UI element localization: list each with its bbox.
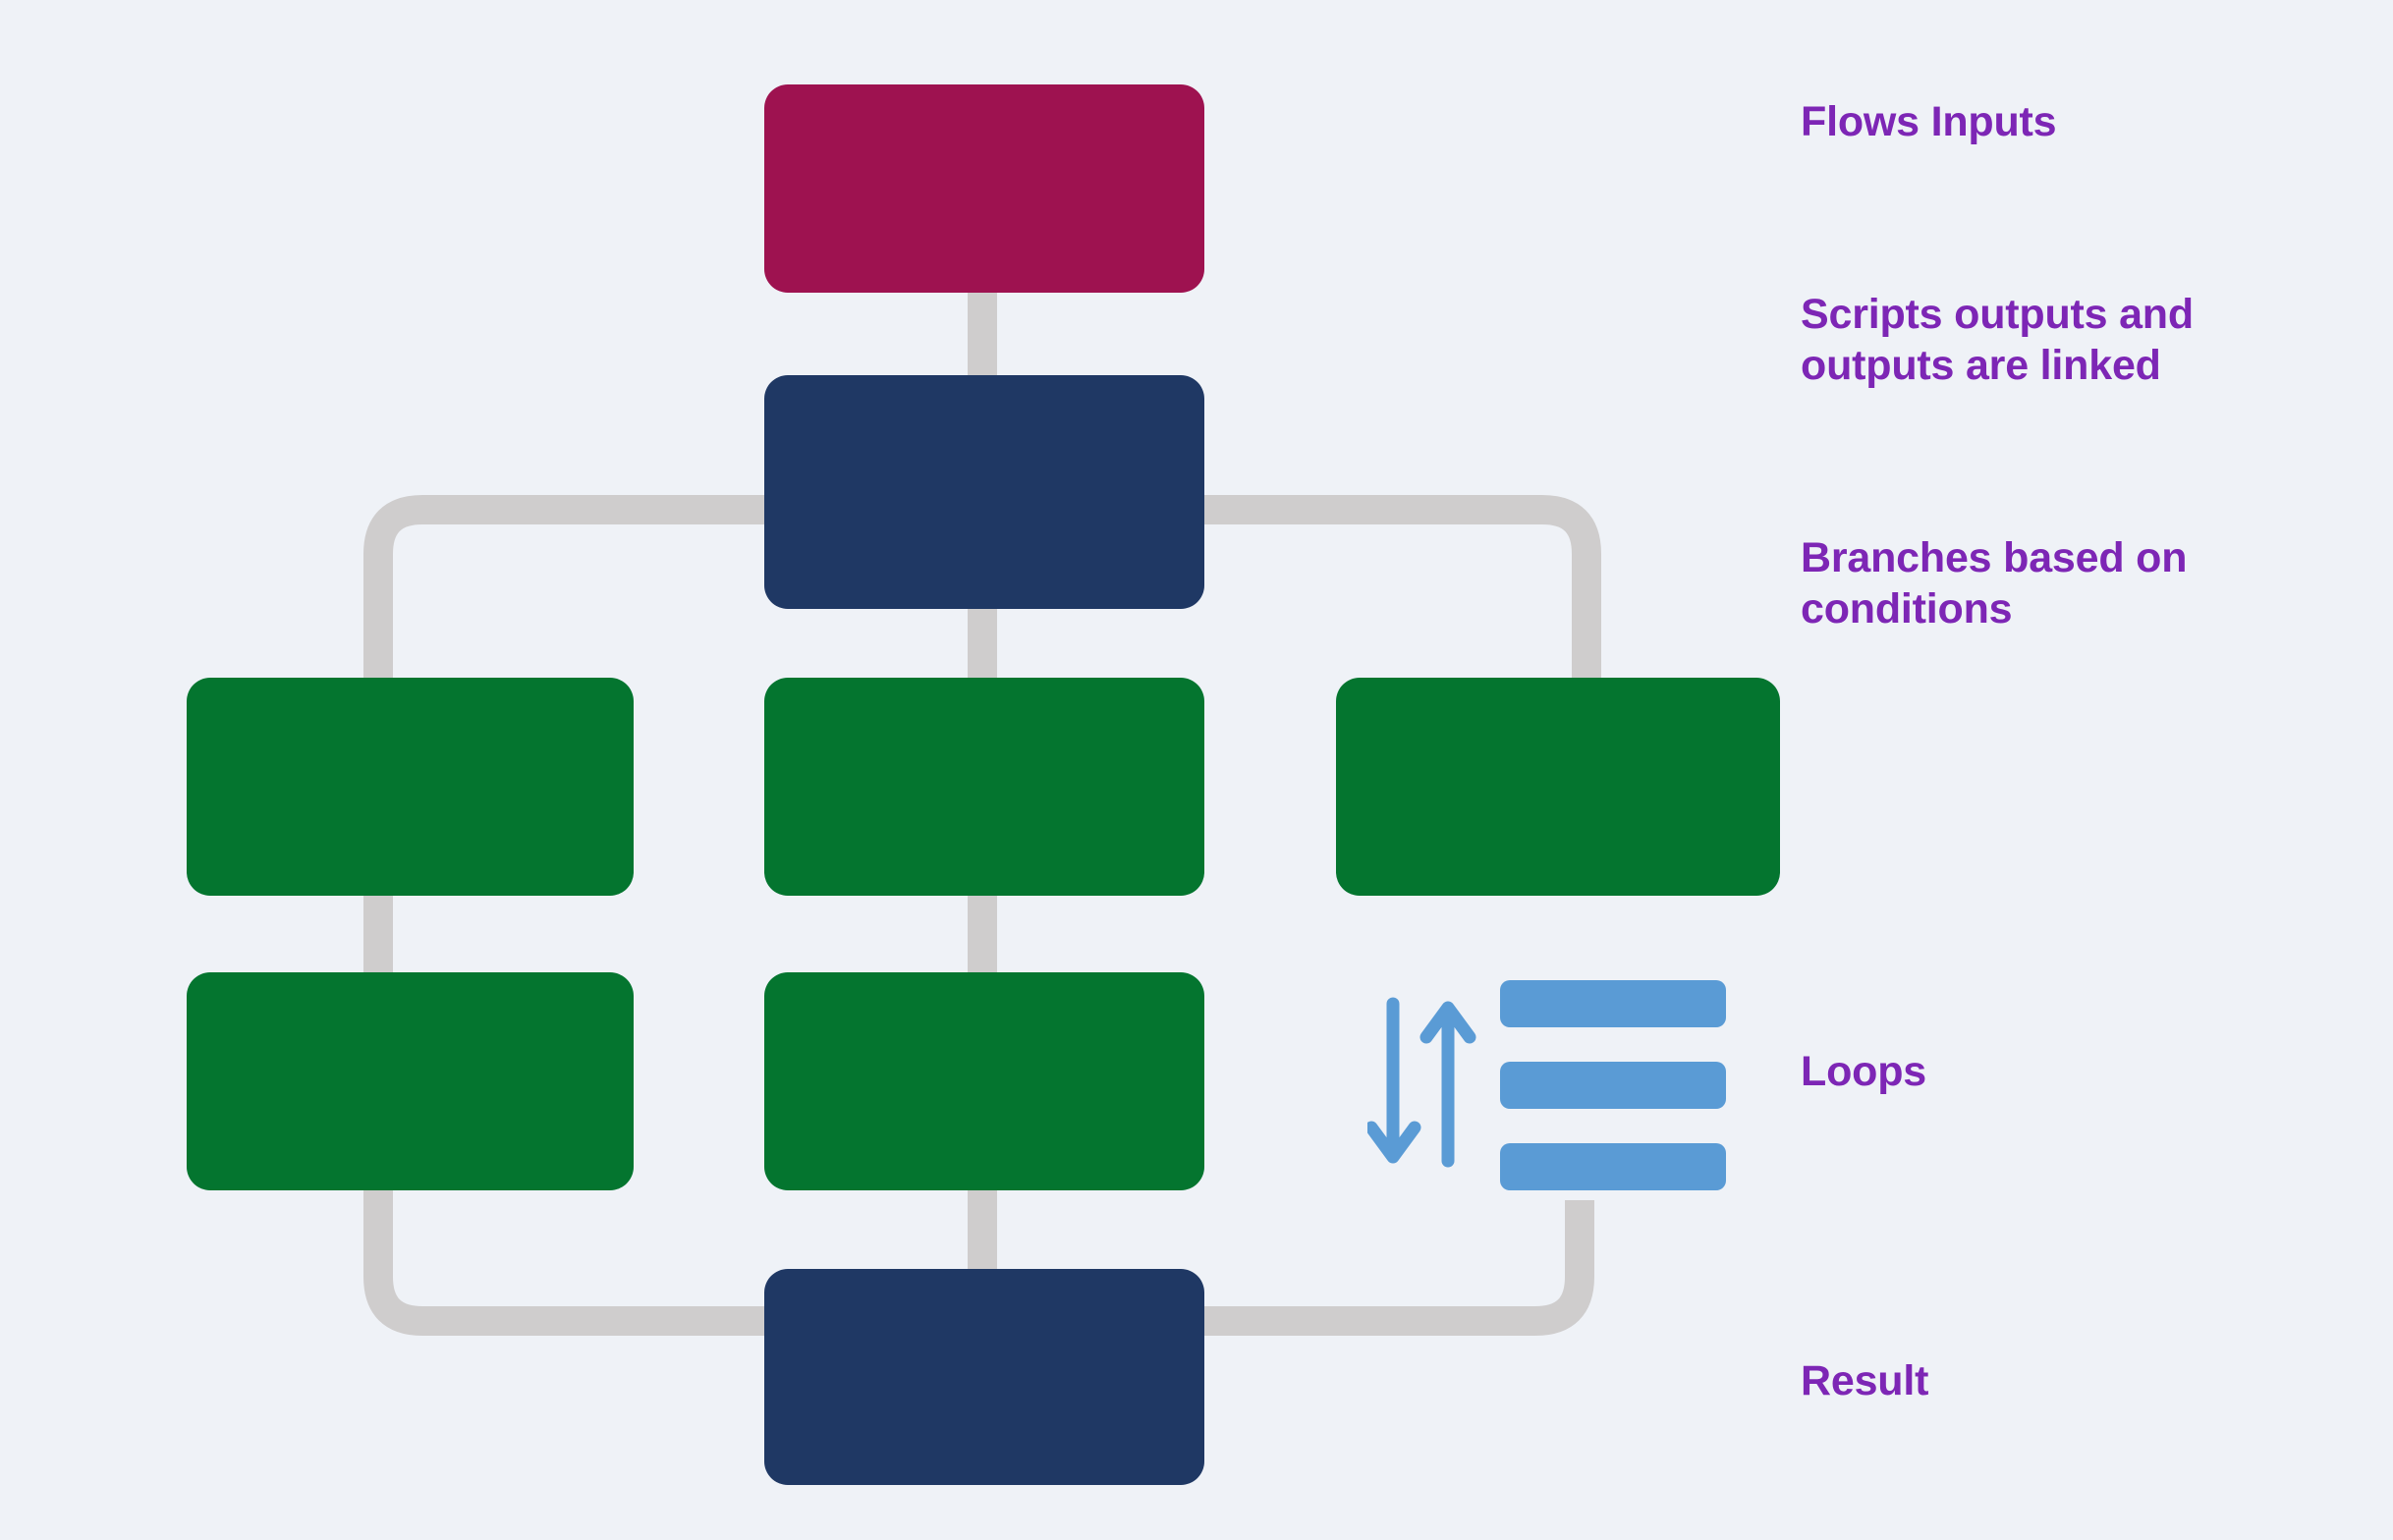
label-loops: Loops [1801, 1046, 1926, 1097]
loop-bar-2[interactable] [1500, 1062, 1726, 1109]
label-scripts-outputs-linked: Scripts outputs and outputs are linked [1801, 289, 2194, 392]
node-flows-inputs[interactable] [764, 84, 1204, 293]
connector-script-to-left [378, 510, 776, 687]
node-result[interactable] [764, 1269, 1204, 1485]
node-branch-right[interactable] [1336, 678, 1780, 896]
connector-loops-to-result [1193, 1200, 1580, 1321]
diagram-canvas: Flows Inputs Scripts outputs and outputs… [0, 0, 2393, 1540]
node-script[interactable] [764, 375, 1204, 609]
connector-script-to-right [1193, 510, 1586, 687]
node-loop-left[interactable] [187, 972, 634, 1190]
loop-bar-3[interactable] [1500, 1143, 1726, 1190]
up-arrow-icon [1426, 1008, 1470, 1161]
down-arrow-icon [1371, 1004, 1415, 1157]
loop-arrows-icon [1367, 994, 1485, 1171]
label-branches-conditions: Branches based on conditions [1801, 532, 2187, 635]
loop-bar-1[interactable] [1500, 980, 1726, 1027]
connector-loopleft-to-result [378, 1181, 776, 1321]
node-branch-left[interactable] [187, 678, 634, 896]
node-loop-center[interactable] [764, 972, 1204, 1190]
label-result: Result [1801, 1355, 1928, 1406]
node-branch-center[interactable] [764, 678, 1204, 896]
label-flows-inputs: Flows Inputs [1801, 96, 2056, 147]
